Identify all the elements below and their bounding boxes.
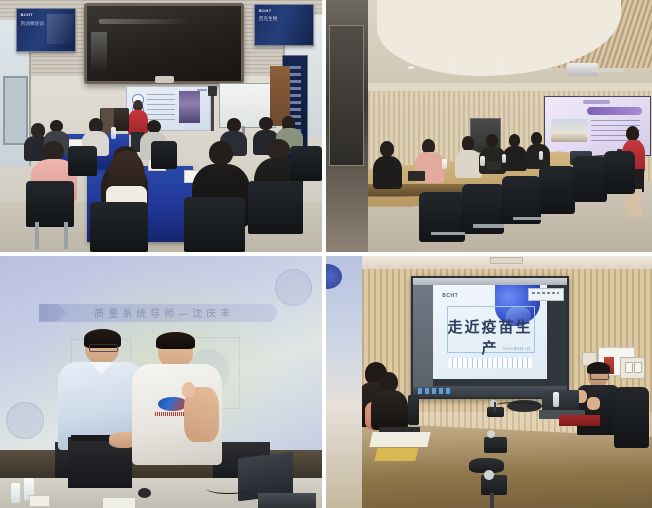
tshirt-logo bbox=[158, 397, 187, 411]
water-bottle bbox=[111, 127, 116, 138]
note-window[interactable] bbox=[528, 288, 564, 302]
tissue-box bbox=[487, 161, 500, 170]
wall-switch-panel[interactable] bbox=[620, 357, 645, 379]
microphone-base-2 bbox=[484, 437, 507, 452]
man-right-hair bbox=[156, 332, 195, 350]
chair bbox=[68, 146, 97, 176]
ceiling-vent bbox=[490, 257, 524, 264]
tripod bbox=[211, 96, 214, 131]
microphone-gooseneck bbox=[494, 402, 496, 412]
speaker-glasses bbox=[590, 373, 609, 380]
photo-body: BCHT 走近疫苗生产 2024年6月7日 bbox=[362, 256, 652, 508]
taskbar-icons[interactable] bbox=[418, 388, 452, 394]
slide-portrait bbox=[179, 91, 200, 123]
ceiling-light-3 bbox=[496, 62, 501, 65]
banner-left-streak bbox=[47, 14, 74, 44]
wall-display: BCHT 走近疫苗生产 2024年6月7日 bbox=[411, 276, 569, 398]
attendee-head bbox=[209, 141, 233, 165]
water-bottle bbox=[539, 151, 543, 160]
attendee-head bbox=[380, 141, 394, 157]
chair-leg bbox=[513, 217, 541, 220]
chair-leg bbox=[35, 222, 39, 250]
chair bbox=[539, 166, 576, 214]
watermark-stamp-bottom-left bbox=[6, 402, 43, 439]
chair bbox=[614, 387, 649, 447]
water-bottle bbox=[480, 156, 485, 166]
photo-collage: BCHT 内训师培训 BCHT 百克生物 bbox=[0, 0, 652, 508]
slide-banner-text: 质量系统导师—沈庆丰 bbox=[71, 305, 258, 320]
attendee-head bbox=[462, 136, 474, 151]
slide-subtitle: 2024年6月7日 bbox=[503, 347, 531, 352]
banner-left-logo: BCHT bbox=[21, 12, 34, 17]
chair bbox=[26, 181, 74, 226]
water-bottle-2 bbox=[11, 483, 19, 503]
chair bbox=[151, 141, 177, 169]
tissue-box bbox=[408, 171, 425, 181]
ceiling-display bbox=[84, 3, 245, 85]
chair-leg bbox=[473, 224, 504, 227]
water-bottle bbox=[553, 392, 559, 407]
chair-leg bbox=[431, 232, 465, 236]
photo-top-right bbox=[326, 0, 652, 252]
projector-arm bbox=[590, 68, 624, 72]
attendee-head bbox=[227, 118, 241, 132]
photo-bottom-right: BCHT 走近疫苗生产 2024年6月7日 bbox=[326, 256, 652, 508]
camera-on-tripod bbox=[208, 86, 218, 96]
chair bbox=[90, 202, 148, 252]
photo-bottom-left: 质量系统导师—沈庆丰 bbox=[0, 256, 322, 508]
switch-button[interactable] bbox=[625, 362, 633, 373]
attendee-head bbox=[509, 134, 520, 147]
attendee-body bbox=[503, 146, 528, 171]
yellow-folder bbox=[375, 448, 419, 461]
attendee-head bbox=[422, 139, 435, 154]
display-titlebar bbox=[413, 278, 567, 285]
screen-heading bbox=[583, 100, 610, 104]
left-photo-edge-strip bbox=[326, 256, 362, 508]
note-window-text bbox=[532, 292, 559, 294]
slide-logo: BCHT bbox=[442, 293, 458, 299]
microphone-head-3 bbox=[484, 470, 494, 480]
attendee-body bbox=[526, 144, 550, 169]
display-left-panel bbox=[413, 285, 433, 387]
chair bbox=[573, 156, 607, 201]
attendee-body bbox=[373, 156, 403, 189]
switch-button-2[interactable] bbox=[634, 362, 642, 373]
screen-image bbox=[551, 119, 587, 142]
paper-sheet bbox=[369, 432, 430, 447]
chair bbox=[604, 151, 635, 194]
instructor-body bbox=[128, 110, 148, 135]
screen-title-bar bbox=[587, 107, 642, 115]
speaker-hand-right bbox=[587, 397, 600, 410]
banner-left: BCHT 内训师培训 bbox=[16, 8, 76, 53]
display-mount bbox=[155, 76, 174, 84]
red-book bbox=[559, 415, 600, 426]
chair-leg bbox=[64, 222, 68, 250]
water-bottle bbox=[442, 159, 447, 169]
chair bbox=[184, 197, 245, 252]
banner-right-logo: BCHT bbox=[259, 8, 272, 13]
man-right-thumb bbox=[182, 382, 195, 397]
display-glare-2 bbox=[91, 32, 106, 71]
chair bbox=[248, 181, 303, 234]
name-plate bbox=[29, 495, 50, 507]
watermark-stamp-top-right bbox=[275, 269, 312, 306]
microphone-stem bbox=[490, 493, 495, 508]
water-bottle bbox=[502, 154, 506, 163]
chair bbox=[290, 146, 322, 181]
photo-body bbox=[368, 0, 652, 252]
banner-right-text: 百克生物 bbox=[259, 16, 310, 22]
onscreen-keyboard[interactable] bbox=[448, 358, 532, 367]
window-pane bbox=[3, 76, 28, 146]
laptop-keyboard bbox=[258, 493, 316, 508]
attendee-head bbox=[267, 139, 290, 160]
photo-top-left: BCHT 内训师培训 BCHT 百克生物 bbox=[0, 0, 322, 252]
slide-logo bbox=[197, 89, 207, 92]
man-left-glasses bbox=[89, 344, 118, 352]
banner-right: BCHT 百克生物 bbox=[254, 4, 314, 46]
display-glare bbox=[99, 19, 186, 24]
attendee-head bbox=[486, 134, 498, 148]
cable bbox=[206, 483, 251, 494]
left-door-glass bbox=[329, 25, 364, 166]
attendee-head bbox=[259, 117, 273, 130]
thermos bbox=[408, 395, 418, 425]
slide-text-lines bbox=[147, 94, 175, 122]
paper-stack bbox=[103, 498, 135, 508]
attendee-body-2 bbox=[371, 390, 409, 430]
